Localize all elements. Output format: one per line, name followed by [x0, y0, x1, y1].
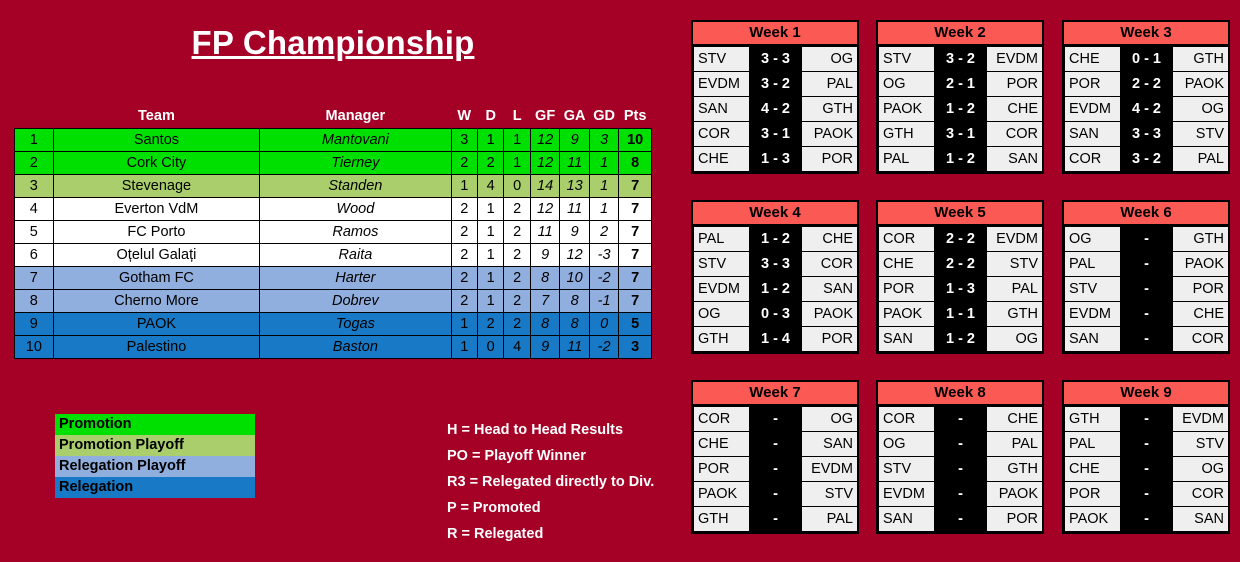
- fixture-home-team: EVDM: [1065, 302, 1121, 327]
- fixture-away-team: SAN: [802, 432, 858, 457]
- fixture-home-team: PAOK: [1065, 507, 1121, 532]
- fixture-row: POR-COR: [1065, 482, 1229, 507]
- cell-team: Cherno More: [53, 290, 260, 313]
- fixture-away-team: OG: [802, 47, 858, 72]
- cell-l: 2: [504, 221, 530, 244]
- cell-team: Palestino: [53, 336, 260, 359]
- fixture-away-team: CHE: [802, 227, 858, 252]
- cell-mgr: Tierney: [260, 152, 451, 175]
- fixture-home-team: STV: [1065, 277, 1121, 302]
- fixture-score: 3 - 1: [750, 122, 802, 147]
- week-title: Week 4: [693, 202, 857, 226]
- table-row: 1SantosMantovani311129310: [15, 129, 652, 152]
- fixture-away-team: OG: [987, 327, 1043, 352]
- fixture-away-team: STV: [1173, 432, 1229, 457]
- fixture-score: -: [935, 407, 987, 432]
- header-team: Team: [53, 104, 260, 129]
- cell-gd: 1: [589, 175, 619, 198]
- key-line: R3 = Relegated directly to Div.: [447, 469, 654, 495]
- fixture-away-team: PAL: [802, 72, 858, 97]
- fixture-row: OG-GTH: [1065, 227, 1229, 252]
- cell-w: 2: [451, 244, 477, 267]
- fixture-away-team: PAL: [1173, 147, 1229, 172]
- week-title: Week 3: [1064, 22, 1228, 46]
- fixture-home-team: GTH: [1065, 407, 1121, 432]
- fixture-score: 3 - 2: [750, 72, 802, 97]
- fixture-home-team: COR: [879, 227, 935, 252]
- cell-rank: 1: [15, 129, 54, 152]
- fixture-row: SAN3 - 3STV: [1065, 122, 1229, 147]
- fixture-away-team: EVDM: [1173, 407, 1229, 432]
- fixture-score: 3 - 3: [1121, 122, 1173, 147]
- fixture-home-team: COR: [879, 407, 935, 432]
- cell-gd: 0: [589, 313, 619, 336]
- fixture-home-team: PAL: [879, 147, 935, 172]
- week-title: Week 5: [878, 202, 1042, 226]
- fixture-home-team: EVDM: [694, 72, 750, 97]
- fixture-home-team: OG: [694, 302, 750, 327]
- cell-rank: 3: [15, 175, 54, 198]
- cell-rank: 10: [15, 336, 54, 359]
- fixture-score: -: [935, 457, 987, 482]
- legend-item-promotion-playoff: Promotion Playoff: [55, 435, 255, 456]
- fixture-score: 1 - 2: [935, 327, 987, 352]
- cell-d: 4: [477, 175, 503, 198]
- cell-ga: 11: [560, 198, 590, 221]
- cell-d: 1: [477, 290, 503, 313]
- table-row: 4Everton VdMWood212121117: [15, 198, 652, 221]
- fixture-score: 4 - 2: [1121, 97, 1173, 122]
- fixture-away-team: PAL: [987, 432, 1043, 457]
- fixture-row: PAL-PAOK: [1065, 252, 1229, 277]
- cell-l: 0: [504, 175, 530, 198]
- fixture-home-team: PAL: [1065, 252, 1121, 277]
- league-table: Team Manager W D L GF GA GD Pts 1SantosM…: [14, 104, 652, 359]
- fixture-score: -: [750, 457, 802, 482]
- fixture-home-team: CHE: [694, 147, 750, 172]
- fixture-row: PAL1 - 2CHE: [694, 227, 858, 252]
- fixture-row: GTH1 - 4POR: [694, 327, 858, 352]
- cell-d: 1: [477, 267, 503, 290]
- fixture-score: 1 - 1: [935, 302, 987, 327]
- cell-l: 2: [504, 290, 530, 313]
- fixture-home-team: EVDM: [694, 277, 750, 302]
- cell-gf: 9: [530, 244, 560, 267]
- cell-mgr: Dobrev: [260, 290, 451, 313]
- fixture-home-team: COR: [694, 407, 750, 432]
- fixture-row: POR2 - 2PAOK: [1065, 72, 1229, 97]
- zone-legend: PromotionPromotion PlayoffRelegation Pla…: [55, 414, 255, 498]
- fixture-away-team: PAOK: [802, 122, 858, 147]
- fixture-home-team: OG: [879, 432, 935, 457]
- fixture-score: 1 - 3: [935, 277, 987, 302]
- fixture-score: -: [1121, 327, 1173, 352]
- fixture-score: 2 - 2: [935, 252, 987, 277]
- week-panel: Week 5COR2 - 2EVDMCHE2 - 2STVPOR1 - 3PAL…: [876, 200, 1044, 354]
- header-rank: [15, 104, 54, 129]
- cell-ga: 10: [560, 267, 590, 290]
- fixture-score: -: [750, 432, 802, 457]
- fixture-away-team: EVDM: [987, 47, 1043, 72]
- fixture-away-team: PAOK: [802, 302, 858, 327]
- fixture-away-team: PAOK: [1173, 72, 1229, 97]
- fixture-home-team: COR: [1065, 147, 1121, 172]
- key-line: H = Head to Head Results: [447, 417, 654, 443]
- fixture-row: STV3 - 3OG: [694, 47, 858, 72]
- key-line: PO = Playoff Winner: [447, 443, 654, 469]
- fixture-row: CHE0 - 1GTH: [1065, 47, 1229, 72]
- fixture-score: -: [1121, 507, 1173, 532]
- cell-gd: 3: [589, 129, 619, 152]
- fixture-home-team: CHE: [879, 252, 935, 277]
- fixture-away-team: OG: [802, 407, 858, 432]
- cell-team: PAOK: [53, 313, 260, 336]
- fixture-home-team: EVDM: [1065, 97, 1121, 122]
- fixture-row: POR-EVDM: [694, 457, 858, 482]
- cell-rank: 6: [15, 244, 54, 267]
- fixture-home-team: EVDM: [879, 482, 935, 507]
- header-l: L: [504, 104, 530, 129]
- fixture-away-team: SAN: [987, 147, 1043, 172]
- cell-w: 1: [451, 336, 477, 359]
- table-row: 5FC PortoRamos21211927: [15, 221, 652, 244]
- fixture-score: 2 - 2: [935, 227, 987, 252]
- fixture-row: COR-OG: [694, 407, 858, 432]
- fixture-home-team: PAOK: [879, 97, 935, 122]
- cell-d: 0: [477, 336, 503, 359]
- cell-mgr: Raita: [260, 244, 451, 267]
- table-row: 10PalestinoBaston104911-23: [15, 336, 652, 359]
- cell-gd: -2: [589, 336, 619, 359]
- cell-team: Everton VdM: [53, 198, 260, 221]
- fixture-away-team: STV: [802, 482, 858, 507]
- fixture-away-team: STV: [1173, 122, 1229, 147]
- cell-rank: 8: [15, 290, 54, 313]
- fixture-home-team: SAN: [879, 327, 935, 352]
- page-title: FP Championship: [0, 24, 666, 62]
- key-line: P = Promoted: [447, 495, 654, 521]
- fixture-score: -: [935, 482, 987, 507]
- table-row: 2Cork CityTierney221121118: [15, 152, 652, 175]
- table-row: 7Gotham FCHarter212810-27: [15, 267, 652, 290]
- fixture-score: 1 - 2: [750, 227, 802, 252]
- fixture-row: EVDM3 - 2PAL: [694, 72, 858, 97]
- cell-l: 2: [504, 267, 530, 290]
- fixture-row: COR3 - 2PAL: [1065, 147, 1229, 172]
- legend-item-relegation: Relegation: [55, 477, 255, 498]
- fixture-row: OG0 - 3PAOK: [694, 302, 858, 327]
- abbreviation-key: H = Head to Head ResultsPO = Playoff Win…: [447, 417, 654, 547]
- cell-team: Gotham FC: [53, 267, 260, 290]
- fixture-score: 3 - 2: [935, 47, 987, 72]
- fixture-away-team: CHE: [1173, 302, 1229, 327]
- key-line: R = Relegated: [447, 521, 654, 547]
- fixture-away-team: GTH: [1173, 227, 1229, 252]
- fixture-row: POR1 - 3PAL: [879, 277, 1043, 302]
- cell-mgr: Togas: [260, 313, 451, 336]
- fixture-score: -: [1121, 432, 1173, 457]
- fixture-row: CHE1 - 3POR: [694, 147, 858, 172]
- cell-mgr: Baston: [260, 336, 451, 359]
- cell-gf: 12: [530, 129, 560, 152]
- header-gd: GD: [589, 104, 619, 129]
- fixture-score: 2 - 2: [1121, 72, 1173, 97]
- cell-w: 2: [451, 152, 477, 175]
- fixture-away-team: EVDM: [987, 227, 1043, 252]
- fixture-score: -: [1121, 457, 1173, 482]
- cell-pts: 10: [619, 129, 652, 152]
- week-title: Week 8: [878, 382, 1042, 406]
- cell-ga: 8: [560, 313, 590, 336]
- fixture-home-team: GTH: [694, 507, 750, 532]
- fixture-home-team: STV: [879, 47, 935, 72]
- fixture-away-team: CHE: [987, 97, 1043, 122]
- legend-item-promotion: Promotion: [55, 414, 255, 435]
- fixture-score: -: [1121, 482, 1173, 507]
- fixture-home-team: OG: [879, 72, 935, 97]
- fixture-row: OG-PAL: [879, 432, 1043, 457]
- fixture-away-team: SAN: [1173, 507, 1229, 532]
- fixture-away-team: CHE: [987, 407, 1043, 432]
- fixture-home-team: STV: [694, 47, 750, 72]
- fixture-score: 1 - 2: [750, 277, 802, 302]
- fixture-home-team: SAN: [879, 507, 935, 532]
- cell-l: 1: [504, 129, 530, 152]
- cell-pts: 7: [619, 221, 652, 244]
- fixture-away-team: OG: [1173, 97, 1229, 122]
- fixture-row: PAL1 - 2SAN: [879, 147, 1043, 172]
- fixture-away-team: GTH: [802, 97, 858, 122]
- cell-ga: 11: [560, 152, 590, 175]
- week-title: Week 2: [878, 22, 1042, 46]
- cell-mgr: Ramos: [260, 221, 451, 244]
- cell-ga: 9: [560, 221, 590, 244]
- fixture-row: PAOK1 - 1GTH: [879, 302, 1043, 327]
- cell-team: FC Porto: [53, 221, 260, 244]
- cell-team: Stevenage: [53, 175, 260, 198]
- cell-gd: 1: [589, 152, 619, 175]
- fixture-row: COR3 - 1PAOK: [694, 122, 858, 147]
- cell-d: 2: [477, 152, 503, 175]
- week-panel: Week 6OG-GTHPAL-PAOKSTV-POREVDM-CHESAN-C…: [1062, 200, 1230, 354]
- fixture-row: PAL-STV: [1065, 432, 1229, 457]
- fixture-score: -: [1121, 252, 1173, 277]
- cell-w: 2: [451, 290, 477, 313]
- cell-ga: 11: [560, 336, 590, 359]
- week-title: Week 9: [1064, 382, 1228, 406]
- cell-l: 2: [504, 244, 530, 267]
- table-row: 3StevenageStanden140141317: [15, 175, 652, 198]
- fixture-home-team: POR: [879, 277, 935, 302]
- cell-pts: 7: [619, 175, 652, 198]
- header-ga: GA: [560, 104, 590, 129]
- fixture-score: 2 - 1: [935, 72, 987, 97]
- fixture-score: 1 - 4: [750, 327, 802, 352]
- fixture-row: CHE-OG: [1065, 457, 1229, 482]
- fixture-away-team: POR: [1173, 277, 1229, 302]
- fixture-away-team: POR: [802, 147, 858, 172]
- fixture-away-team: GTH: [987, 302, 1043, 327]
- fixture-home-team: POR: [1065, 72, 1121, 97]
- fixture-score: -: [935, 507, 987, 532]
- fixture-away-team: POR: [987, 507, 1043, 532]
- cell-pts: 3: [619, 336, 652, 359]
- fixture-home-team: CHE: [694, 432, 750, 457]
- fixture-home-team: PAOK: [694, 482, 750, 507]
- cell-pts: 7: [619, 198, 652, 221]
- fixture-away-team: GTH: [1173, 47, 1229, 72]
- cell-gf: 8: [530, 267, 560, 290]
- fixture-home-team: PAOK: [879, 302, 935, 327]
- fixture-row: GTH-EVDM: [1065, 407, 1229, 432]
- fixture-score: 1 - 2: [935, 97, 987, 122]
- fixture-away-team: PAL: [802, 507, 858, 532]
- legend-item-relegation-playoff: Relegation Playoff: [55, 456, 255, 477]
- fixture-away-team: PAL: [987, 277, 1043, 302]
- fixture-row: COR2 - 2EVDM: [879, 227, 1043, 252]
- cell-gf: 12: [530, 152, 560, 175]
- fixture-away-team: PAOK: [987, 482, 1043, 507]
- fixture-away-team: STV: [987, 252, 1043, 277]
- cell-w: 3: [451, 129, 477, 152]
- fixture-home-team: PAL: [1065, 432, 1121, 457]
- cell-rank: 5: [15, 221, 54, 244]
- cell-d: 1: [477, 244, 503, 267]
- fixture-home-team: PAL: [694, 227, 750, 252]
- fixture-away-team: EVDM: [802, 457, 858, 482]
- fixture-score: -: [1121, 407, 1173, 432]
- fixture-row: EVDM1 - 2SAN: [694, 277, 858, 302]
- fixture-row: SAN4 - 2GTH: [694, 97, 858, 122]
- fixture-home-team: GTH: [879, 122, 935, 147]
- fixture-home-team: STV: [879, 457, 935, 482]
- cell-ga: 9: [560, 129, 590, 152]
- cell-ga: 12: [560, 244, 590, 267]
- cell-d: 1: [477, 198, 503, 221]
- fixture-away-team: PAOK: [1173, 252, 1229, 277]
- header-gf: GF: [530, 104, 560, 129]
- cell-l: 4: [504, 336, 530, 359]
- cell-gd: -2: [589, 267, 619, 290]
- table-header-row: Team Manager W D L GF GA GD Pts: [15, 104, 652, 129]
- fixture-score: 3 - 1: [935, 122, 987, 147]
- week-title: Week 7: [693, 382, 857, 406]
- cell-team: Cork City: [53, 152, 260, 175]
- cell-w: 2: [451, 221, 477, 244]
- fixture-home-team: OG: [1065, 227, 1121, 252]
- fixture-score: 3 - 3: [750, 47, 802, 72]
- cell-gf: 9: [530, 336, 560, 359]
- cell-gd: 2: [589, 221, 619, 244]
- cell-pts: 5: [619, 313, 652, 336]
- fixture-score: -: [1121, 277, 1173, 302]
- cell-l: 2: [504, 198, 530, 221]
- fixture-score: 0 - 1: [1121, 47, 1173, 72]
- cell-d: 2: [477, 313, 503, 336]
- fixture-away-team: POR: [802, 327, 858, 352]
- fixture-row: CHE-SAN: [694, 432, 858, 457]
- fixture-row: STV-POR: [1065, 277, 1229, 302]
- fixture-score: -: [1121, 227, 1173, 252]
- cell-l: 2: [504, 313, 530, 336]
- week-panel: Week 2STV3 - 2EVDMOG2 - 1PORPAOK1 - 2CHE…: [876, 20, 1044, 174]
- header-pts: Pts: [619, 104, 652, 129]
- fixture-score: -: [935, 432, 987, 457]
- cell-rank: 4: [15, 198, 54, 221]
- week-panel: Week 9GTH-EVDMPAL-STVCHE-OGPOR-CORPAOK-S…: [1062, 380, 1230, 534]
- cell-gd: -3: [589, 244, 619, 267]
- table-row: 6Oțelul GalațiRaita212912-37: [15, 244, 652, 267]
- cell-w: 1: [451, 175, 477, 198]
- cell-gd: 1: [589, 198, 619, 221]
- fixture-away-team: COR: [987, 122, 1043, 147]
- cell-mgr: Wood: [260, 198, 451, 221]
- header-w: W: [451, 104, 477, 129]
- cell-pts: 7: [619, 244, 652, 267]
- fixture-away-team: COR: [1173, 482, 1229, 507]
- fixture-row: SAN-POR: [879, 507, 1043, 532]
- table-row: 9PAOKTogas1228805: [15, 313, 652, 336]
- fixture-row: STV3 - 2EVDM: [879, 47, 1043, 72]
- cell-pts: 7: [619, 290, 652, 313]
- fixture-away-team: POR: [987, 72, 1043, 97]
- fixture-row: CHE2 - 2STV: [879, 252, 1043, 277]
- week-panel: Week 1STV3 - 3OGEVDM3 - 2PALSAN4 - 2GTHC…: [691, 20, 859, 174]
- fixture-home-team: CHE: [1065, 457, 1121, 482]
- cell-gd: -1: [589, 290, 619, 313]
- week-title: Week 1: [693, 22, 857, 46]
- fixture-row: PAOK1 - 2CHE: [879, 97, 1043, 122]
- cell-team: Oțelul Galați: [53, 244, 260, 267]
- fixture-row: PAOK-SAN: [1065, 507, 1229, 532]
- cell-d: 1: [477, 221, 503, 244]
- fixture-score: 4 - 2: [750, 97, 802, 122]
- fixture-score: -: [750, 507, 802, 532]
- week-panel: Week 3CHE0 - 1GTHPOR2 - 2PAOKEVDM4 - 2OG…: [1062, 20, 1230, 174]
- fixture-away-team: COR: [1173, 327, 1229, 352]
- cell-rank: 7: [15, 267, 54, 290]
- fixture-score: 0 - 3: [750, 302, 802, 327]
- cell-pts: 7: [619, 267, 652, 290]
- fixture-home-team: SAN: [1065, 122, 1121, 147]
- cell-ga: 13: [560, 175, 590, 198]
- fixture-score: 1 - 2: [935, 147, 987, 172]
- cell-mgr: Standen: [260, 175, 451, 198]
- fixture-row: EVDM-PAOK: [879, 482, 1043, 507]
- cell-gf: 8: [530, 313, 560, 336]
- cell-rank: 2: [15, 152, 54, 175]
- cell-l: 1: [504, 152, 530, 175]
- fixture-score: 3 - 3: [750, 252, 802, 277]
- fixture-away-team: GTH: [987, 457, 1043, 482]
- fixture-row: STV-GTH: [879, 457, 1043, 482]
- fixture-row: EVDM-CHE: [1065, 302, 1229, 327]
- fixture-score: -: [1121, 302, 1173, 327]
- fixture-away-team: SAN: [802, 277, 858, 302]
- fixture-home-team: POR: [694, 457, 750, 482]
- cell-mgr: Mantovani: [260, 129, 451, 152]
- cell-gf: 7: [530, 290, 560, 313]
- fixture-row: SAN1 - 2OG: [879, 327, 1043, 352]
- cell-ga: 8: [560, 290, 590, 313]
- fixture-row: COR-CHE: [879, 407, 1043, 432]
- fixture-row: SAN-COR: [1065, 327, 1229, 352]
- fixture-row: GTH3 - 1COR: [879, 122, 1043, 147]
- cell-w: 1: [451, 313, 477, 336]
- fixture-home-team: SAN: [1065, 327, 1121, 352]
- week-panel: Week 8COR-CHEOG-PALSTV-GTHEVDM-PAOKSAN-P…: [876, 380, 1044, 534]
- fixture-home-team: GTH: [694, 327, 750, 352]
